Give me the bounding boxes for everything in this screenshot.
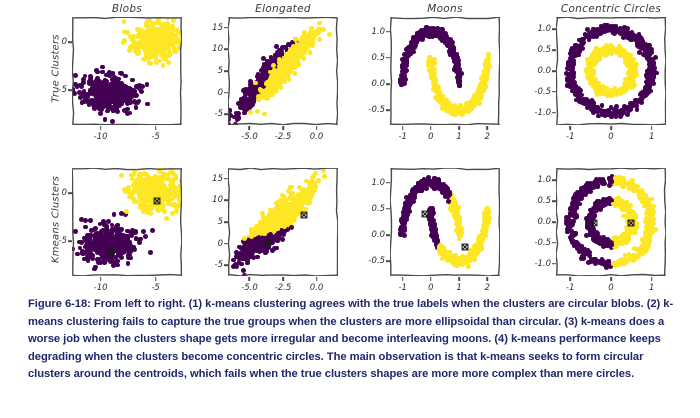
panel-title: Moons [390, 3, 500, 15]
y-tick-mark [386, 261, 390, 263]
y-tick-label: 1.0 [371, 27, 385, 37]
panel-moons-true: Moons1.00.50.0-0.5-1012 [390, 17, 500, 125]
x-tick-label: 1 [456, 132, 461, 142]
y-tick-mark [552, 29, 556, 31]
panel-title: Concentric Circles [556, 3, 666, 15]
row-label-true-clusters: True Clusters [51, 9, 62, 129]
x-tick-label: -5 [151, 132, 159, 142]
x-tick-label: 1 [649, 283, 654, 293]
y-tick-label: 15 [212, 174, 223, 184]
x-tick-label: -10 [94, 283, 108, 293]
y-tick-label: 1.0 [537, 24, 551, 34]
y-tick-label: 0.0 [371, 230, 385, 240]
x-tick-mark [402, 126, 404, 130]
x-tick-label: 0.0 [310, 132, 324, 142]
y-tick-label: 0.0 [537, 217, 551, 227]
y-tick-label: 0.5 [371, 53, 385, 63]
panel-blobs-true: Blobs0-5-10-5 [72, 17, 182, 125]
x-tick-label: -5 [151, 283, 159, 293]
y-tick-mark [552, 200, 556, 202]
x-tick-mark [487, 277, 489, 281]
x-tick-mark [282, 126, 284, 130]
figure-container: Blobs0-5-10-5Elongated151050-5-5.0-2.50.… [0, 0, 700, 418]
x-tick-mark [610, 277, 612, 281]
y-tick-label: 1.0 [371, 178, 385, 188]
x-tick-label: -10 [94, 132, 108, 142]
y-tick-label: -0.5 [534, 238, 551, 248]
x-tick-label: -1 [398, 132, 406, 142]
x-tick-label: 0 [428, 283, 433, 293]
y-tick-mark [224, 200, 228, 202]
x-tick-mark [569, 277, 571, 281]
x-tick-mark [569, 126, 571, 130]
x-tick-mark [430, 126, 432, 130]
x-tick-mark [458, 126, 460, 130]
x-tick-label: -1 [566, 283, 574, 293]
x-tick-mark [458, 277, 460, 281]
y-tick-label: 0.5 [537, 196, 551, 206]
x-tick-label: 0 [608, 132, 613, 142]
y-tick-label: -5 [215, 260, 223, 270]
y-tick-label: 0.5 [537, 45, 551, 55]
x-tick-mark [155, 126, 157, 130]
y-tick-mark [552, 112, 556, 114]
y-tick-label: 5 [218, 217, 223, 227]
x-tick-label: -2.5 [275, 283, 292, 293]
y-tick-mark [224, 178, 228, 180]
x-tick-mark [430, 277, 432, 281]
y-tick-mark [224, 70, 228, 72]
figure-caption: Figure 6-18: From left to right. (1) k-m… [28, 296, 674, 384]
panel-elongated-kmeans: 151050-5-5.0-2.50.0 [228, 168, 338, 276]
panel-blobs-kmeans: 0-5-10-5 [72, 168, 182, 276]
x-tick-label: -2.5 [275, 132, 292, 142]
y-tick-mark [552, 180, 556, 182]
y-tick-mark [224, 243, 228, 245]
y-tick-mark [386, 83, 390, 85]
x-tick-mark [651, 277, 653, 281]
x-tick-label: -1 [566, 132, 574, 142]
y-tick-label: -0.5 [368, 105, 385, 115]
y-tick-mark [68, 240, 72, 242]
x-tick-mark [402, 277, 404, 281]
x-tick-mark [100, 126, 102, 130]
y-tick-label: -1.0 [534, 259, 551, 269]
y-tick-mark [224, 27, 228, 29]
y-tick-mark [386, 234, 390, 236]
y-tick-label: 0.0 [537, 66, 551, 76]
y-tick-mark [552, 70, 556, 72]
panel-moons-kmeans: 1.00.50.0-0.5-1012 [390, 168, 500, 276]
y-tick-mark [552, 49, 556, 51]
x-tick-mark [100, 277, 102, 281]
y-tick-mark [552, 263, 556, 265]
x-tick-label: -5.0 [241, 132, 258, 142]
x-tick-label: 1 [456, 283, 461, 293]
y-tick-mark [386, 182, 390, 184]
x-tick-mark [249, 277, 251, 281]
row-label-kmeans-clusters: Kmeans Clusters [51, 160, 62, 280]
y-tick-mark [224, 49, 228, 51]
x-tick-mark [282, 277, 284, 281]
x-tick-label: 2 [485, 132, 490, 142]
x-tick-mark [316, 277, 318, 281]
panel-elongated-true: Elongated151050-5-5.0-2.50.0 [228, 17, 338, 125]
y-tick-label: -5 [215, 109, 223, 119]
y-tick-mark [224, 113, 228, 115]
y-tick-label: 10 [212, 44, 223, 54]
x-tick-label: 1 [649, 132, 654, 142]
x-tick-mark [487, 126, 489, 130]
x-tick-mark [155, 277, 157, 281]
x-tick-label: -5.0 [241, 283, 258, 293]
y-tick-mark [386, 110, 390, 112]
y-tick-label: 15 [212, 23, 223, 33]
y-tick-mark [68, 41, 72, 43]
y-tick-label: -0.5 [368, 256, 385, 266]
panel-title: Blobs [72, 3, 182, 15]
y-tick-mark [552, 242, 556, 244]
y-tick-mark [224, 264, 228, 266]
x-tick-mark [316, 126, 318, 130]
y-tick-label: 0 [62, 37, 67, 47]
x-tick-mark [651, 126, 653, 130]
y-tick-label: -0.5 [534, 87, 551, 97]
y-tick-label: 0 [218, 239, 223, 249]
y-tick-mark [552, 221, 556, 223]
panel-concentric-circles-true: Concentric Circles1.00.50.0-0.5-1.0-101 [556, 17, 666, 125]
y-tick-label: 1.0 [537, 175, 551, 185]
x-tick-label: -1 [398, 283, 406, 293]
x-tick-mark [249, 126, 251, 130]
y-tick-label: 5 [218, 66, 223, 76]
y-tick-mark [68, 192, 72, 194]
plot-grid: Blobs0-5-10-5Elongated151050-5-5.0-2.50.… [0, 0, 700, 282]
panel-title: Elongated [228, 3, 338, 15]
y-tick-label: -1.0 [534, 108, 551, 118]
y-tick-label: 0 [62, 188, 67, 198]
y-tick-mark [224, 92, 228, 94]
y-tick-label: 0 [218, 88, 223, 98]
y-tick-mark [386, 31, 390, 33]
y-tick-mark [68, 89, 72, 91]
y-tick-label: 0.5 [371, 204, 385, 214]
x-tick-label: 0 [608, 283, 613, 293]
x-tick-mark [610, 126, 612, 130]
x-tick-label: 2 [485, 283, 490, 293]
y-tick-mark [552, 91, 556, 93]
panel-concentric-circles-kmeans: 1.00.50.0-0.5-1.0-101 [556, 168, 666, 276]
x-tick-label: 0.0 [310, 283, 324, 293]
y-tick-label: 0.0 [371, 79, 385, 89]
x-tick-label: 0 [428, 132, 433, 142]
y-tick-label: 10 [212, 195, 223, 205]
y-tick-mark [386, 57, 390, 59]
y-tick-mark [386, 208, 390, 210]
y-tick-mark [224, 221, 228, 223]
